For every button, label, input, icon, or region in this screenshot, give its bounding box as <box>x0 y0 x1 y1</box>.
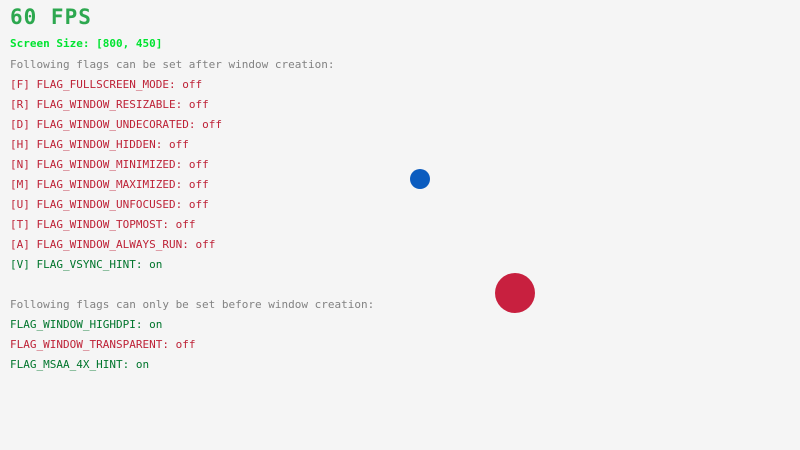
flag-name: FLAG_WINDOW_TOPMOST <box>37 218 163 231</box>
flag-hotkey: [F] <box>10 78 30 91</box>
fps-counter: 60 FPS <box>10 7 92 28</box>
flag-state: on <box>149 258 162 271</box>
flag-row-flag-window-always-run[interactable]: [A] FLAG_WINDOW_ALWAYS_RUN: off <box>10 239 215 250</box>
flag-state: off <box>202 118 222 131</box>
flag-name: FLAG_WINDOW_UNDECORATED <box>37 118 189 131</box>
flag-name: FLAG_WINDOW_HIGHDPI <box>10 318 136 331</box>
flag-row-flag-window-topmost[interactable]: [T] FLAG_WINDOW_TOPMOST: off <box>10 219 195 230</box>
flag-name: FLAG_WINDOW_MINIMIZED <box>37 158 176 171</box>
flag-row-flag-window-highdpi[interactable]: FLAG_WINDOW_HIGHDPI: on <box>10 319 162 330</box>
flag-state: on <box>136 358 149 371</box>
flag-name: FLAG_VSYNC_HINT <box>37 258 136 271</box>
flag-hotkey: [M] <box>10 178 30 191</box>
blue-ball <box>410 169 430 189</box>
flags-section-heading: Following flags can be set after window … <box>10 59 335 70</box>
flag-state: off <box>182 78 202 91</box>
flag-row-flag-window-maximized[interactable]: [M] FLAG_WINDOW_MAXIMIZED: off <box>10 179 209 190</box>
flag-hotkey: [V] <box>10 258 30 271</box>
flag-name: FLAG_WINDOW_HIDDEN <box>37 138 156 151</box>
flag-state: off <box>176 338 196 351</box>
flag-row-flag-window-resizable[interactable]: [R] FLAG_WINDOW_RESIZABLE: off <box>10 99 209 110</box>
flag-state: off <box>189 198 209 211</box>
flag-state: off <box>189 98 209 111</box>
flag-name: FLAG_WINDOW_UNFOCUSED <box>37 198 176 211</box>
flag-name: FLAG_WINDOW_RESIZABLE <box>37 98 176 111</box>
flag-row-flag-window-minimized[interactable]: [N] FLAG_WINDOW_MINIMIZED: off <box>10 159 209 170</box>
flag-row-flag-msaa-4x-hint[interactable]: FLAG_MSAA_4X_HINT: on <box>10 359 149 370</box>
flag-row-flag-window-unfocused[interactable]: [U] FLAG_WINDOW_UNFOCUSED: off <box>10 199 209 210</box>
flag-row-flag-vsync-hint[interactable]: [V] FLAG_VSYNC_HINT: on <box>10 259 162 270</box>
flag-hotkey: [A] <box>10 238 30 251</box>
flag-state: off <box>169 138 189 151</box>
flag-row-flag-window-transparent[interactable]: FLAG_WINDOW_TRANSPARENT: off <box>10 339 195 350</box>
flag-hotkey: [R] <box>10 98 30 111</box>
flag-state: off <box>189 158 209 171</box>
flag-hotkey: [H] <box>10 138 30 151</box>
flag-name: FLAG_WINDOW_TRANSPARENT <box>10 338 162 351</box>
raylib-window-canvas[interactable]: 60 FPS Screen Size: [800, 450] Following… <box>0 0 800 450</box>
flag-hotkey: [U] <box>10 198 30 211</box>
flag-name: FLAG_MSAA_4X_HINT <box>10 358 123 371</box>
flag-state: on <box>149 318 162 331</box>
flag-row-flag-fullscreen-mode[interactable]: [F] FLAG_FULLSCREEN_MODE: off <box>10 79 202 90</box>
flag-row-flag-window-undecorated[interactable]: [D] FLAG_WINDOW_UNDECORATED: off <box>10 119 222 130</box>
flag-state: off <box>189 178 209 191</box>
screen-size-label: Screen Size: [800, 450] <box>10 38 162 49</box>
flag-state: off <box>176 218 196 231</box>
flag-row-flag-window-hidden[interactable]: [H] FLAG_WINDOW_HIDDEN: off <box>10 139 189 150</box>
flag-name: FLAG_WINDOW_MAXIMIZED <box>37 178 176 191</box>
flag-name: FLAG_FULLSCREEN_MODE <box>37 78 169 91</box>
flag-name: FLAG_WINDOW_ALWAYS_RUN <box>37 238 183 251</box>
red-ball <box>495 273 535 313</box>
flag-state: off <box>195 238 215 251</box>
flag-hotkey: [T] <box>10 218 30 231</box>
flag-hotkey: [N] <box>10 158 30 171</box>
flag-hotkey: [D] <box>10 118 30 131</box>
flags-section-heading: Following flags can only be set before w… <box>10 299 374 310</box>
